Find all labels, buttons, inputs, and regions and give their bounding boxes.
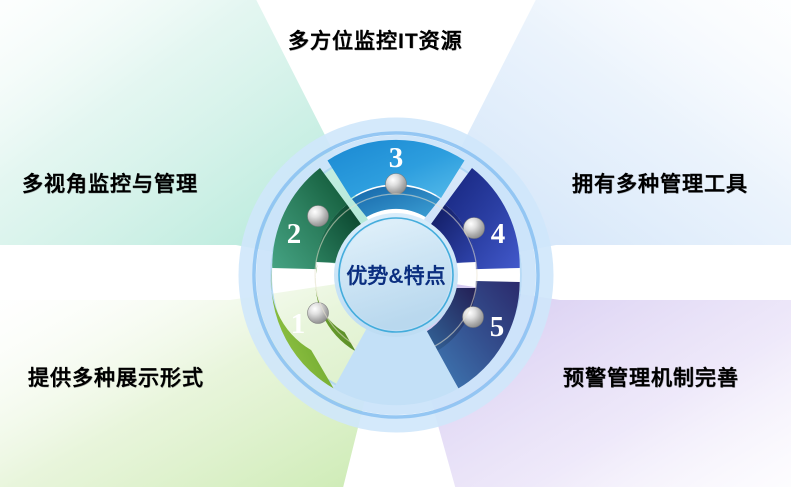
segment-2-number: 2 <box>287 218 302 250</box>
center-disc[interactable]: 优势&特点 <box>334 213 458 337</box>
label-right-top: 拥有多种管理工具 <box>572 168 748 198</box>
segment-2-bead[interactable] <box>308 206 329 227</box>
segment-1-bead[interactable] <box>308 303 329 324</box>
label-right-bottom: 预警管理机制完善 <box>563 362 739 392</box>
label-left-top: 多视角监控与管理 <box>22 168 198 198</box>
diagram-canvas: 1 2 3 4 <box>0 0 791 487</box>
center-label: 优势&特点 <box>346 264 445 288</box>
segment-4-number: 4 <box>491 218 506 250</box>
radial-wheel-svg: 1 2 3 4 <box>0 0 791 487</box>
label-left-bottom: 提供多种展示形式 <box>28 362 204 392</box>
segment-3-number: 3 <box>389 142 404 174</box>
segment-3-bead[interactable] <box>386 174 407 195</box>
segment-5-number: 5 <box>490 311 505 343</box>
axis-streak-right <box>530 268 791 277</box>
segment-1-number: 1 <box>291 308 306 340</box>
axis-streak-left <box>0 268 260 277</box>
label-top: 多方位监控IT资源 <box>288 25 463 55</box>
